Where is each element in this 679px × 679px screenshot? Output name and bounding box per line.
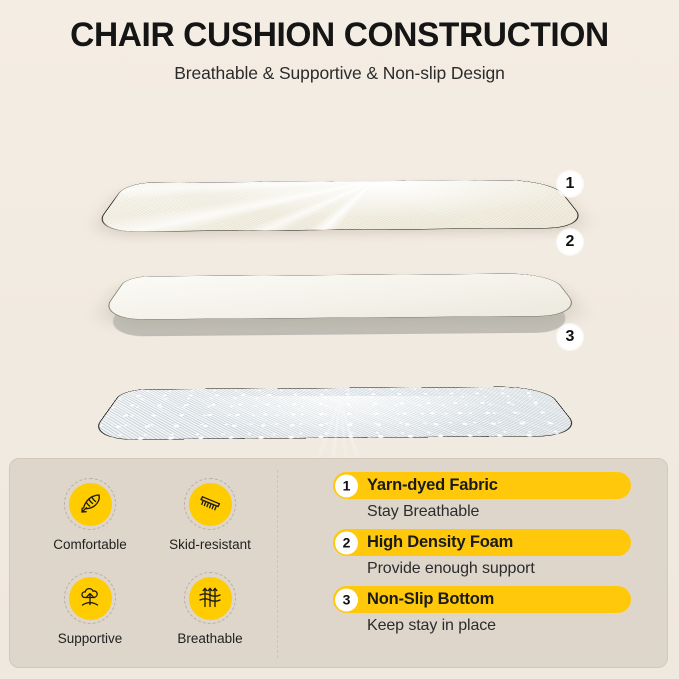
feature-label: Comfortable <box>53 537 127 552</box>
layer-badge-2: 2 <box>556 228 584 256</box>
brush-bristles-icon <box>189 483 232 526</box>
feature-label: Supportive <box>58 631 123 646</box>
feature-label: Breathable <box>177 631 242 646</box>
legend-subtitle: Stay Breathable <box>367 503 653 521</box>
feature-supportive[interactable]: Supportive <box>30 564 150 658</box>
cushion-up-arrow-icon <box>69 577 112 620</box>
legend-pill: 3 Non-Slip Bottom <box>333 586 631 613</box>
feature-label: Skid-resistant <box>169 537 251 552</box>
legend-pill: 1 Yarn-dyed Fabric <box>333 472 631 499</box>
icon-ring <box>64 478 116 530</box>
feature-comfortable[interactable]: Comfortable <box>30 470 150 564</box>
legend-number: 3 <box>335 588 358 611</box>
cushion-exploded-diagram <box>0 100 679 450</box>
page-title: CHAIR CUSHION CONSTRUCTION <box>5 18 674 54</box>
infographic-page: CHAIR CUSHION CONSTRUCTION Breathable & … <box>0 0 679 679</box>
legend-item-3[interactable]: 3 Non-Slip Bottom Keep stay in place <box>333 586 653 635</box>
legend-item-1[interactable]: 1 Yarn-dyed Fabric Stay Breathable <box>333 472 653 521</box>
legend-list: 1 Yarn-dyed Fabric Stay Breathable 2 Hig… <box>333 472 653 643</box>
airflow-arrows-icon <box>189 577 232 620</box>
legend-number: 2 <box>335 531 358 554</box>
icon-ring <box>184 478 236 530</box>
legend-item-2[interactable]: 2 High Density Foam Provide enough suppo… <box>333 529 653 578</box>
header: CHAIR CUSHION CONSTRUCTION Breathable & … <box>0 18 679 84</box>
feature-icon-grid: Comfortable Skid-resistant <box>30 470 270 658</box>
feature-skid-resistant[interactable]: Skid-resistant <box>150 470 270 564</box>
non-slip-layer-face <box>86 386 584 440</box>
layer-badge-3: 3 <box>556 323 584 351</box>
feather-icon <box>69 483 112 526</box>
non-slip-bottom-layer <box>88 312 586 438</box>
icon-ring <box>184 572 236 624</box>
legend-title: Yarn-dyed Fabric <box>367 476 498 495</box>
legend-pill: 2 High Density Foam <box>333 529 631 556</box>
legend-title: Non-Slip Bottom <box>367 590 494 609</box>
layer-badge-1: 1 <box>556 170 584 198</box>
panel-divider <box>277 470 278 658</box>
page-subtitle: Breathable & Supportive & Non-slip Desig… <box>0 63 679 84</box>
legend-title: High Density Foam <box>367 533 513 552</box>
legend-subtitle: Provide enough support <box>367 560 653 578</box>
feature-breathable[interactable]: Breathable <box>150 564 270 658</box>
icon-ring <box>64 572 116 624</box>
legend-number: 1 <box>335 474 358 497</box>
legend-subtitle: Keep stay in place <box>367 617 653 635</box>
